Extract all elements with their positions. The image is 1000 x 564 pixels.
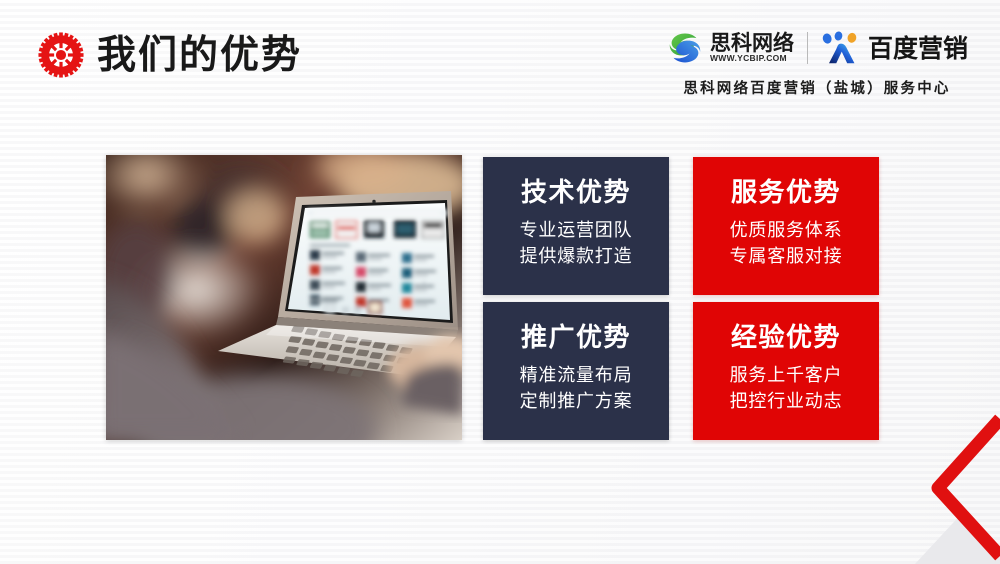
card-line: 把控行业动志	[730, 389, 843, 415]
advantage-cards: 技术优势 专业运营团队 提供爆款打造 服务优势 优质服务体系 专属客服对接 推广…	[483, 157, 879, 440]
laptop-photo-image	[106, 155, 462, 440]
card-line: 精准流量布局	[520, 363, 633, 389]
red-chevron-decoration	[938, 419, 1000, 556]
card-line: 专业运营团队	[520, 218, 633, 244]
baidu-logo: 百度营销	[821, 31, 968, 65]
card-title: 技术优势	[521, 179, 631, 208]
card-line: 定制推广方案	[520, 389, 633, 415]
card-line: 专属客服对接	[730, 244, 843, 270]
sike-logo: 思科网络 WWW.YCBIP.COM	[666, 29, 794, 67]
gray-chevron-shadow	[915, 510, 1000, 564]
card-title: 经验优势	[731, 324, 841, 353]
card-service[interactable]: 服务优势 优质服务体系 专属客服对接	[693, 157, 879, 295]
s-swoosh-logo-icon	[666, 29, 704, 67]
sike-logo-text: 思科网络 WWW.YCBIP.COM	[710, 32, 794, 63]
logo-block: 思科网络 WWW.YCBIP.COM	[666, 26, 968, 98]
sike-logo-name: 思科网络	[710, 32, 794, 54]
card-tech[interactable]: 技术优势 专业运营团队 提供爆款打造	[483, 157, 669, 295]
card-line: 优质服务体系	[730, 218, 843, 244]
laptop-photo	[106, 155, 462, 440]
logo-separator	[807, 32, 808, 64]
title-group: 我们的优势	[38, 32, 302, 78]
baidu-paw-icon	[821, 31, 861, 65]
card-experience[interactable]: 经验优势 服务上千客户 把控行业动志	[693, 302, 879, 440]
card-title: 推广优势	[521, 324, 631, 353]
slide-header: 我们的优势	[0, 0, 1000, 118]
baidu-logo-name: 百度营销	[868, 36, 968, 61]
logo-caption: 思科网络百度营销（盐城）服务中心	[683, 77, 950, 98]
slide-canvas: 我们的优势	[0, 0, 1000, 564]
gear-icon	[38, 32, 84, 78]
sike-logo-url: WWW.YCBIP.COM	[710, 54, 794, 63]
page-title: 我们的优势	[97, 36, 302, 75]
card-line: 提供爆款打造	[520, 244, 633, 270]
card-line: 服务上千客户	[730, 363, 843, 389]
logo-row: 思科网络 WWW.YCBIP.COM	[666, 26, 968, 70]
card-title: 服务优势	[731, 179, 841, 208]
card-promotion[interactable]: 推广优势 精准流量布局 定制推广方案	[483, 302, 669, 440]
